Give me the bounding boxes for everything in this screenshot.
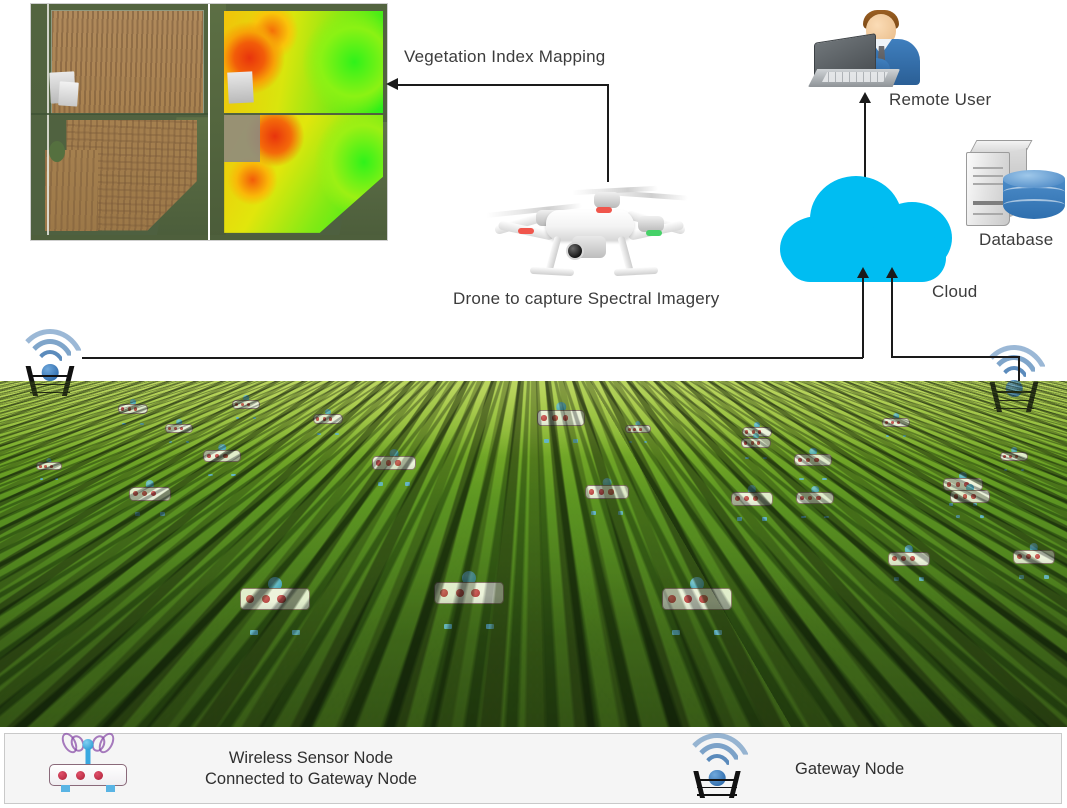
sensor-node-led [897, 421, 900, 424]
left-gateway-horizontal-line [82, 357, 863, 359]
sensor-node-led [277, 595, 285, 603]
sensor-node-led [1009, 455, 1012, 458]
sensor-node [36, 462, 62, 478]
sensor-node-led [386, 460, 391, 465]
right-gateway-vertical-line [891, 277, 893, 358]
sensor-node [796, 492, 834, 516]
sensor-node-led [800, 496, 804, 500]
sensor-node-body [232, 400, 260, 409]
satellite-road-vertical [47, 4, 49, 240]
drone-to-map-horizontal-line [396, 84, 609, 86]
sensor-node-foot [317, 433, 321, 435]
sensor-node [731, 492, 773, 518]
sensor-node-led [133, 491, 138, 496]
sensor-node-foot [1019, 575, 1024, 578]
sensor-node-led [1003, 455, 1006, 458]
sensor-node-foot [737, 517, 742, 520]
laptop-keyboard [822, 72, 888, 82]
legend-sensor-line-2: Connected to Gateway Node [205, 769, 417, 790]
sensor-node [741, 438, 771, 457]
sensor-node-foot [573, 439, 579, 443]
sensor-node [585, 485, 629, 512]
sensor-node [537, 410, 585, 440]
sensor-node-foot [55, 478, 58, 480]
sensor-node-body [950, 490, 990, 503]
right-gateway-node-icon [982, 350, 1046, 412]
drone-led-red-left [518, 228, 534, 234]
sensor-node-foot [253, 417, 256, 419]
sensor-node-led [814, 458, 818, 462]
gateway-crossbar-3 [30, 392, 71, 393]
sensor-node-foot [762, 517, 767, 520]
sensor-node-foot [629, 441, 632, 443]
left-gateway-to-cloud-arrowhead [857, 267, 869, 278]
sensor-foot-left [61, 785, 70, 792]
database-top [1003, 170, 1065, 188]
field-foreground-shade [0, 571, 1067, 727]
ndvi-heatmap-pane [208, 4, 387, 240]
sensor-router-body [49, 764, 127, 786]
sensor-led-1 [58, 771, 67, 780]
sensor-node-led [246, 595, 254, 603]
sensor-node-foot [672, 630, 680, 635]
sensor-node-led [50, 465, 53, 468]
server-slot-4 [973, 201, 1003, 205]
sensor-node-led [44, 465, 47, 468]
ndvi-bottom-band [210, 235, 387, 240]
sensor-node-led [215, 454, 219, 458]
sensor-node-led [563, 415, 569, 421]
sensor-node-foot [980, 515, 985, 518]
gateway-crossbar-2 [30, 384, 71, 385]
sensor-node-body [537, 410, 585, 426]
sensor-node-led [735, 496, 740, 501]
sensor-node-led [891, 421, 894, 424]
sensor-node-body [662, 588, 732, 610]
sensor-node-body [796, 492, 834, 504]
sensor-node-led [901, 556, 906, 561]
sensor-node [165, 424, 193, 441]
sensor-node-led [440, 589, 448, 597]
sensor-node-body [731, 492, 773, 506]
sensor-node-led [471, 589, 479, 597]
sensor-node-body [313, 414, 343, 424]
sensor-node [1000, 452, 1028, 469]
sensor-node-led [323, 417, 326, 420]
gateway-crossbar-3 [697, 794, 738, 795]
legend-sensor-line-1: Wireless Sensor Node [205, 748, 417, 769]
sensor-node-led [885, 421, 888, 424]
sensor-node-led [128, 407, 131, 410]
sensor-node-led [753, 496, 758, 501]
sensor-node-led [910, 556, 915, 561]
legend-tower [685, 742, 749, 798]
satellite-building-b [59, 81, 80, 106]
sensor-node-foot [919, 577, 924, 580]
legend-gateway-line-1: Gateway Node [795, 759, 904, 780]
gateway-crossbar-1 [30, 375, 71, 376]
sensor-node-led [241, 403, 244, 406]
drone-icon [488, 180, 688, 285]
sensor-node-led [552, 415, 558, 421]
gateway-crossbar-3 [994, 408, 1035, 409]
sensor-node-led [699, 595, 707, 603]
gateway-antenna-ball [42, 364, 59, 381]
database-cylinder-icon [1003, 170, 1065, 228]
sensor-node-led [456, 589, 464, 597]
server-slot-1 [973, 167, 1003, 169]
sensor-node-led [971, 494, 976, 499]
drone-skid-left [530, 267, 574, 276]
sensor-node-led [1015, 455, 1018, 458]
sensor-node [240, 588, 310, 631]
sensor-node-foot [292, 630, 300, 635]
sensor-node-body [585, 485, 629, 499]
sensor-node-foot [231, 474, 236, 477]
sensor-node-foot [801, 516, 806, 519]
sensor-node-led [639, 428, 642, 431]
sensor-node-foot [444, 624, 452, 629]
sensor-node-foot [335, 433, 339, 435]
sensor-node [662, 588, 732, 631]
satellite-imagery-pane [31, 4, 208, 240]
cloud-label: Cloud [932, 281, 977, 302]
satellite-road-horizontal [31, 113, 208, 115]
left-gateway-vertical-line [862, 277, 864, 358]
sensor-node-foot [135, 512, 140, 515]
sensor-node-led [1026, 554, 1031, 559]
sensor-node [950, 490, 990, 515]
sensor-node-body [888, 552, 930, 566]
right-gateway-riser-line [1018, 357, 1020, 381]
legend-item-gateway-node: Gateway Node [677, 742, 904, 798]
sensor-node-foot [886, 435, 889, 437]
sensor-node-led [235, 403, 238, 406]
right-gateway-to-cloud-arrowhead [886, 267, 898, 278]
sensor-led-2 [76, 771, 85, 780]
wireless-sensor-node-icon [49, 744, 127, 794]
satellite-bottom-band [31, 235, 208, 240]
sensor-node-foot [1044, 575, 1049, 578]
sensor-node-foot [591, 511, 596, 514]
sensor-node-body [372, 456, 416, 470]
sensor-node-foot [903, 435, 906, 437]
sensor-node-led [395, 460, 400, 465]
gateway-crossbar-2 [994, 400, 1035, 401]
sensor-node-led [816, 496, 820, 500]
sensor-node-led [757, 441, 760, 444]
sensor-node-led [142, 491, 147, 496]
gateway-crossbar-2 [697, 787, 738, 788]
right-gateway-mast [982, 382, 1046, 412]
sensor-node-led [1035, 554, 1040, 559]
sensor-node-foot [169, 441, 172, 443]
sensor-node-led [744, 496, 749, 501]
server-slot-5 [973, 213, 1003, 215]
sensor-node-foot [956, 515, 961, 518]
sensor-node-led [954, 494, 959, 499]
sensor-node-led [892, 556, 897, 561]
sensor-node-led [541, 415, 547, 421]
left-gateway-node-icon [18, 334, 82, 396]
sensor-node-led [134, 407, 137, 410]
sensor-node-led [633, 428, 636, 431]
drone-to-map-vertical-line [607, 84, 609, 182]
sensor-node-foot [1021, 469, 1024, 471]
sensor-node-led [316, 417, 319, 420]
sensor-node-body [240, 588, 310, 610]
gateway-node-icon [677, 742, 763, 798]
sensor-node-body [882, 418, 910, 427]
cloud-to-user-arrowhead [859, 92, 871, 103]
sensor-node-led [121, 407, 124, 410]
sensor-node-foot [714, 630, 722, 635]
sensor-node [372, 456, 416, 483]
sensor-node [625, 425, 651, 441]
gateway-crossbar-1 [697, 779, 738, 780]
sensor-node-foot [763, 457, 767, 459]
sensor-node-foot [644, 441, 647, 443]
sensor-node-body [1000, 452, 1028, 461]
sensor-node-body [741, 438, 771, 448]
vegetation-index-mapping-label: Vegetation Index Mapping [404, 46, 605, 67]
sensor-node [232, 400, 260, 417]
sensor-node-led [168, 427, 171, 430]
sensor-node-led [599, 489, 604, 494]
sensor-node-led [247, 403, 250, 406]
drone-to-map-arrowhead [386, 78, 398, 90]
sensor-node-foot [208, 474, 213, 477]
legend-panel: Wireless Sensor Node Connected to Gatewa… [4, 733, 1062, 804]
sensor-node-foot [405, 482, 410, 485]
sensor-node-foot [894, 577, 899, 580]
right-gateway-horizontal-line [891, 356, 1020, 358]
cloud-icon [780, 172, 952, 282]
sensor-node-led [262, 595, 270, 603]
gateway-crossbar-1 [994, 391, 1035, 392]
sensor-node-foot [140, 423, 144, 425]
sensor-node-led [376, 460, 381, 465]
sensor-node-led [174, 427, 177, 430]
sensor-node-foot [486, 624, 494, 629]
gateway-antenna-ball [709, 770, 726, 787]
cloud-to-user-line [864, 103, 866, 179]
sensor-antenna-knob [83, 739, 94, 750]
server-slot-3 [973, 183, 1003, 185]
sensor-node-foot [745, 457, 749, 459]
drone-skid-right [614, 267, 658, 276]
sensor-node-foot [824, 516, 829, 519]
sensor-node-foot [250, 630, 258, 635]
sensor-node-body [1013, 550, 1055, 564]
ndvi-building [227, 72, 253, 104]
sensor-node [882, 418, 910, 435]
drone-leg-right [617, 236, 633, 273]
legend-gateway-mast [685, 771, 749, 798]
sensor-node [434, 582, 504, 625]
sensor-node [129, 487, 171, 513]
drone-camera-lens-icon [566, 242, 584, 260]
sensor-node-foot [186, 441, 189, 443]
database-label: Database [979, 229, 1053, 250]
sensor-node [203, 450, 241, 474]
legend-item-sensor-node: Wireless Sensor Node Connected to Gatewa… [49, 744, 417, 794]
sensor-node-led [947, 482, 952, 487]
sensor-node [888, 552, 930, 578]
vegetation-index-map-panel [30, 3, 388, 241]
gateway-antenna-ball [1006, 380, 1023, 397]
sensor-node-body [36, 462, 62, 470]
sensor-node-led [758, 430, 761, 433]
sensor-node-foot [122, 423, 126, 425]
remote-user-label: Remote User [889, 89, 991, 110]
sensor-node-foot [40, 478, 43, 480]
sensor-node-led [180, 427, 183, 430]
sensor-node [313, 414, 343, 433]
left-gateway-mast [18, 366, 82, 396]
sensor-node-led [329, 417, 332, 420]
sensor-node [1013, 550, 1055, 576]
sensor-node-foot [378, 482, 383, 485]
sensor-node-led [745, 430, 748, 433]
sensor-node-led [589, 489, 594, 494]
sensor-node-led [956, 482, 961, 487]
diagram-canvas: Vegetation Index Mapping Drone to captur… [0, 0, 1067, 808]
sensor-node-body [129, 487, 171, 501]
sensor-node-led [668, 595, 676, 603]
sensor-node-body [434, 582, 504, 604]
drone-motor-top [594, 192, 620, 208]
server-slot-2 [973, 175, 1003, 177]
sensor-node [794, 454, 832, 478]
sensor-node-foot [822, 478, 827, 481]
sensor-node-body [118, 404, 148, 414]
sensor-led-3 [94, 771, 103, 780]
sensor-node-led [798, 458, 802, 462]
ndvi-gray-patch [224, 115, 259, 162]
sensor-node [118, 404, 148, 423]
satellite-tree-cluster [49, 141, 65, 162]
sensor-node-led [808, 496, 812, 500]
sensor-node-foot [236, 417, 239, 419]
sensor-node-led [207, 454, 211, 458]
sensor-node-led [39, 465, 42, 468]
remote-user-icon [808, 6, 926, 92]
sensor-foot-right [106, 785, 115, 792]
sensor-node-led [608, 489, 613, 494]
sensor-node-foot [618, 511, 623, 514]
sensor-node-foot [1004, 469, 1007, 471]
sensor-node-led [806, 458, 810, 462]
sensor-node-led [744, 441, 747, 444]
sensor-node-led [963, 494, 968, 499]
sensor-node-foot [160, 512, 165, 515]
sensor-node-led [1017, 554, 1022, 559]
sensor-node-led [684, 595, 692, 603]
sensor-node-led [751, 441, 754, 444]
drone-led-red-top [596, 207, 612, 213]
drone-label: Drone to capture Spectral Imagery [453, 288, 719, 309]
sensor-node-body [794, 454, 832, 466]
sensor-node-body [165, 424, 193, 433]
satellite-field-bottom-left [45, 150, 98, 230]
sensor-node-foot [544, 439, 550, 443]
database-ring-2 [1003, 199, 1065, 211]
sensor-node-body [203, 450, 241, 462]
drone-led-green-right [646, 230, 662, 236]
sensor-node-led [223, 454, 227, 458]
sensor-node-foot [799, 478, 804, 481]
sensor-node-led [628, 428, 631, 431]
sensor-node-led [151, 491, 156, 496]
sensor-node-body [625, 425, 651, 433]
